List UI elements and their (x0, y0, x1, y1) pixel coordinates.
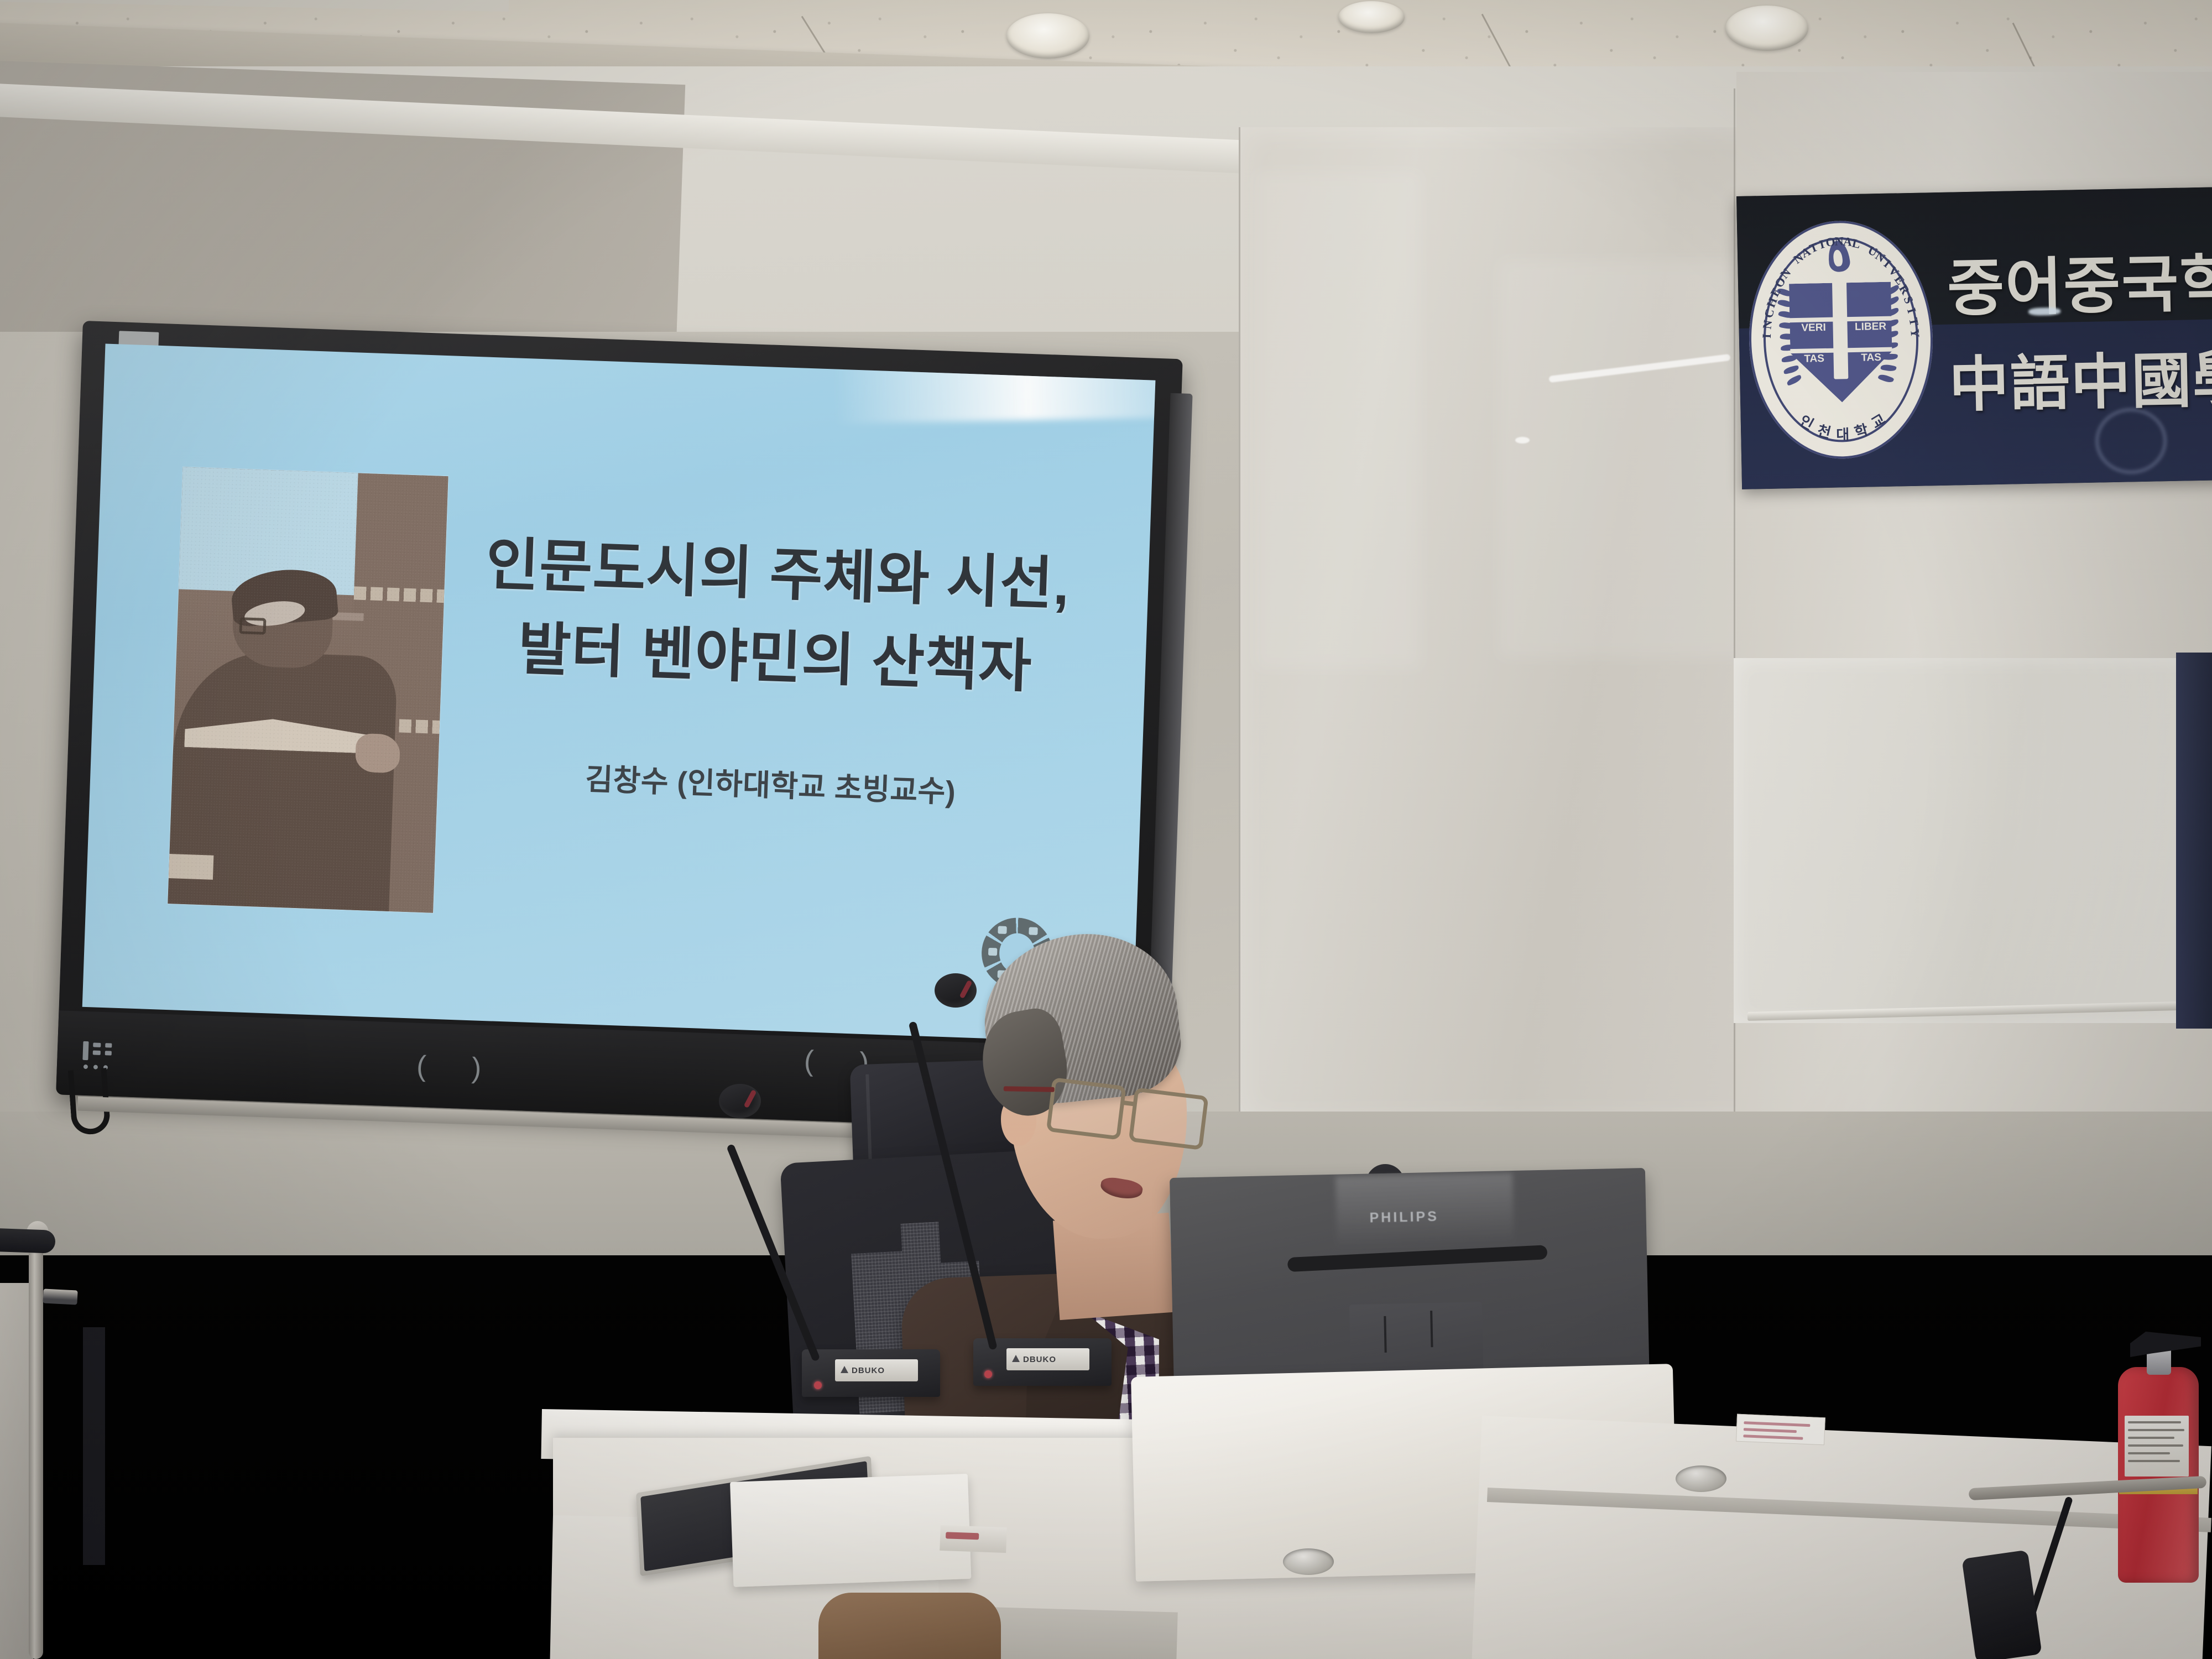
microphone-label-plate-left: DBUKO (835, 1359, 918, 1381)
equipment-cart-post (29, 1233, 43, 1659)
equipment-cart-panel (0, 1283, 33, 1659)
display-bezel-marker: ( ) (416, 1052, 500, 1083)
microphone-brand-label: DBUKO (1023, 1355, 1056, 1364)
lecture-room-photo: VERI LIBER TAS TAS INCHEON NATIONAL UNIV… (0, 0, 2212, 1659)
wall-right-edge-shadow (2176, 653, 2212, 1029)
ceiling-downlight (1338, 1, 1405, 33)
microphone-brand-label: DBUKO (852, 1366, 885, 1375)
ceiling-downlight (1006, 13, 1089, 59)
department-banner: VERI LIBER TAS TAS INCHEON NATIONAL UNIV… (1736, 187, 2212, 489)
screen-glare (834, 351, 1156, 424)
seal-korean-text: 인천대학교 (1747, 219, 1935, 460)
desk-info-label (1736, 1414, 1825, 1446)
right-corner-shadow (83, 1327, 105, 1565)
banner-line-korean: 중어중국학 (1947, 233, 2212, 328)
pen-tray (940, 1525, 1007, 1553)
document-stand (730, 1474, 971, 1587)
banner-highlight (2028, 307, 2060, 316)
slide-photo-benjamin (168, 467, 448, 912)
fire-extinguisher-icon (2118, 1327, 2201, 1582)
wall-whiteboard[interactable] (1734, 658, 2209, 1023)
extinguisher-label (2125, 1416, 2189, 1477)
equipment-cart-handle[interactable] (0, 1227, 56, 1254)
monitor-vent-slot (1287, 1245, 1548, 1272)
desk-cable-grommet[interactable] (1676, 1465, 1726, 1492)
slide-title: 인문도시의 주체와 시선, 발터 벤야민의 산책자 (469, 523, 1083, 711)
microphone-capsule-right (935, 973, 977, 1008)
university-seal-icon: VERI LIBER TAS TAS INCHEON NATIONAL UNIV… (1747, 219, 1935, 460)
foreground-chair[interactable] (818, 1593, 1001, 1659)
desk-right-surface (1472, 1416, 2211, 1659)
microphone-led-right (984, 1370, 992, 1378)
microphone-led-left (814, 1381, 822, 1389)
slide-subtitle: 김창수 (인하대학교 초빙교수) (466, 750, 1076, 815)
monitor-brand-label: PHILIPS (1369, 1209, 1439, 1227)
microphone-capsule-left (719, 1084, 761, 1118)
ceiling-downlight (1725, 6, 1808, 51)
microphone-base-left[interactable]: DBUKO (802, 1349, 940, 1397)
banner-line-hanja: 中語中國學 (1948, 331, 2212, 424)
desk-cable-grommet[interactable] (1283, 1548, 1334, 1575)
microphone-label-plate-right: DBUKO (1006, 1348, 1089, 1370)
equipment-cart-hook (43, 1288, 77, 1305)
